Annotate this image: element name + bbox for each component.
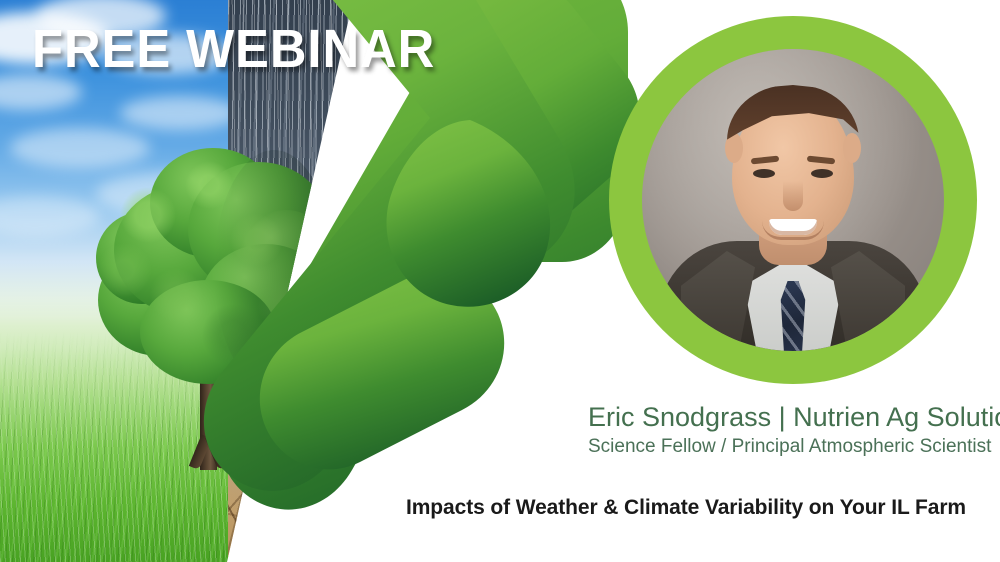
tree-illustration <box>96 140 332 470</box>
chevron-front-terminal <box>260 273 504 470</box>
cloud-icon <box>0 74 82 110</box>
speaker-name: Eric Snodgrass | Nutrien Ag Solutions <box>588 400 988 434</box>
cloud-icon <box>120 96 228 130</box>
nose <box>783 181 803 211</box>
chevron-elbow <box>387 120 551 307</box>
portrait-green-ring <box>609 16 977 384</box>
smiling-mouth <box>769 219 817 235</box>
speaker-headshot <box>642 49 944 351</box>
speaker-role: Science Fellow / Principal Atmospheric S… <box>588 434 988 460</box>
speaker-info: Eric Snodgrass | Nutrien Ag Solutions Sc… <box>588 400 988 460</box>
eye-left <box>753 169 775 178</box>
chevron-back-tip <box>470 0 640 300</box>
free-webinar-badge: FREE WEBINAR <box>32 22 435 76</box>
eye-right <box>811 169 833 178</box>
cracked-dry-earth <box>228 382 500 562</box>
tree-canopy <box>140 280 276 384</box>
cloud-icon <box>0 196 100 236</box>
ear-right <box>843 133 861 163</box>
webinar-promo-banner: FREE WEBINAR Eric Snodgrass | Nutrien Ag… <box>0 0 1000 562</box>
split-weather-photo <box>0 0 500 562</box>
webinar-title: Impacts of Weather & Climate Variability… <box>406 494 966 522</box>
